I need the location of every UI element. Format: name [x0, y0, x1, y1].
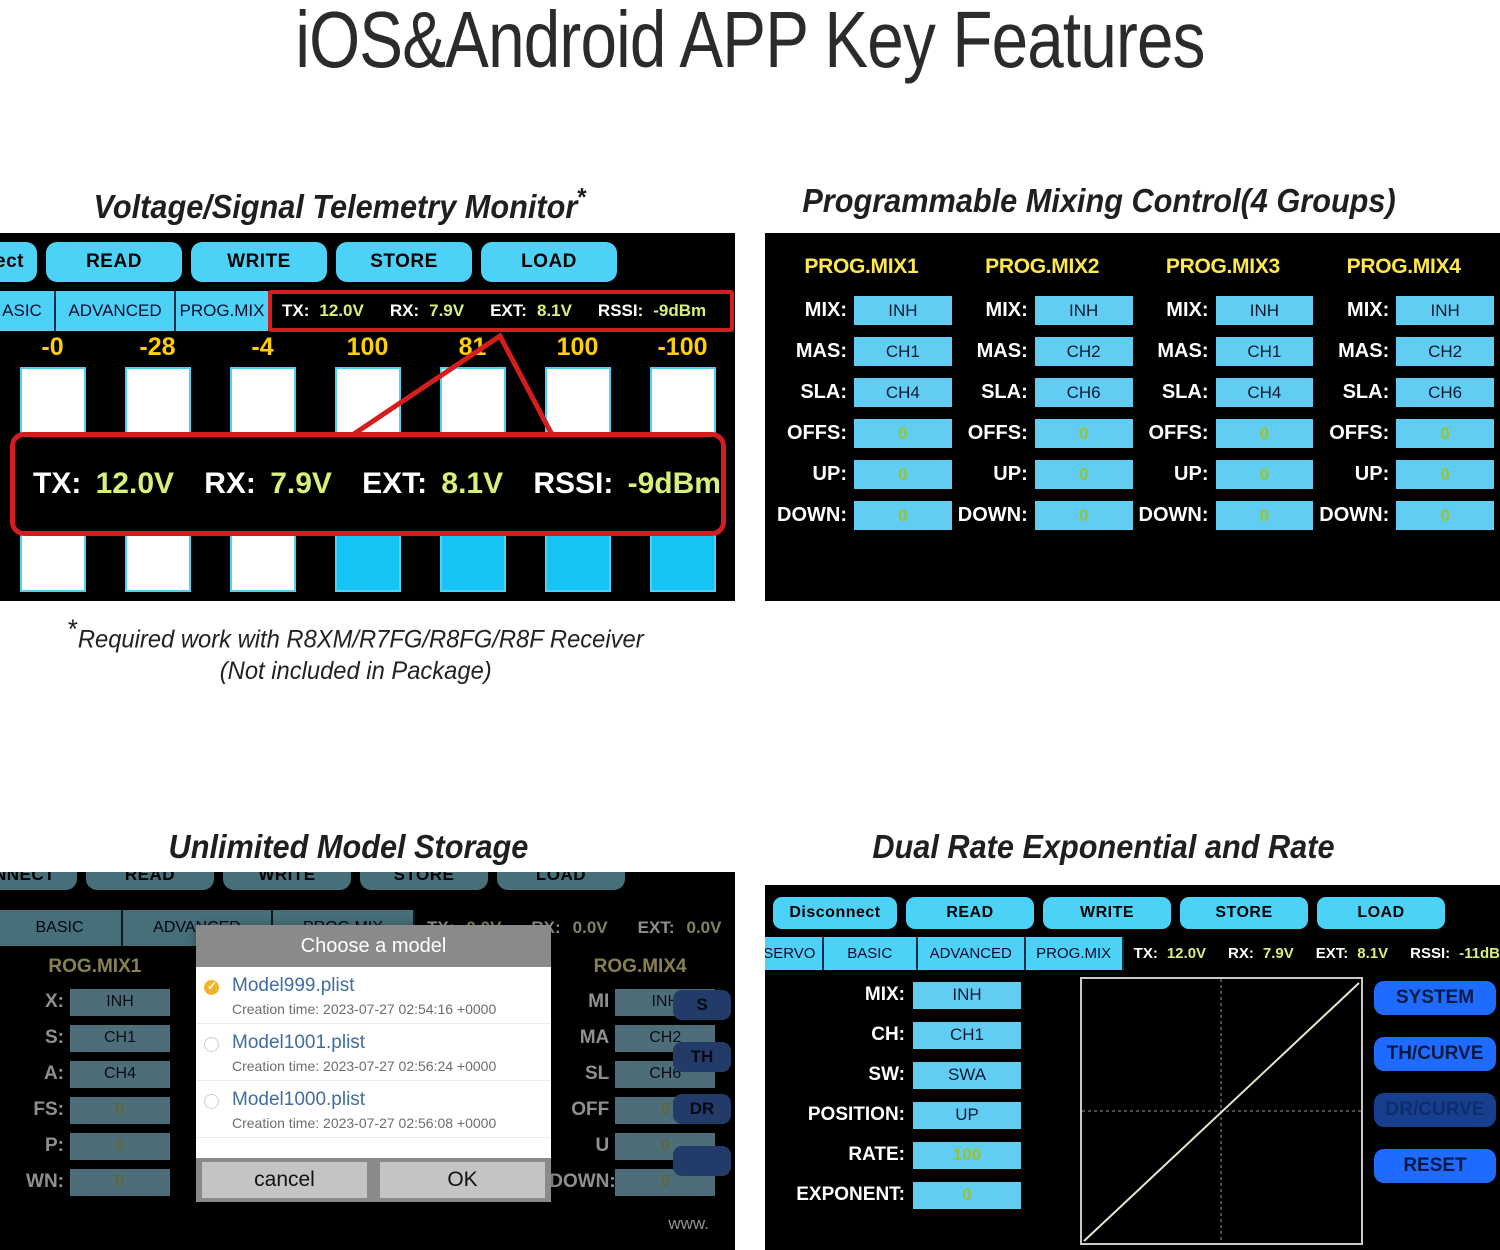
storage-field-label: MA: [549, 1027, 609, 1049]
progmix-cell: SLA:CH6: [1313, 377, 1494, 408]
dualrate-write-button[interactable]: WRITE: [1043, 897, 1171, 929]
progmix-field-offs[interactable]: 0: [1035, 419, 1133, 448]
progmix-cell: MAS:CH1: [1133, 336, 1314, 367]
dualrate-tab-servo[interactable]: SERVO: [765, 937, 824, 970]
dualrate-tx-label: TX:: [1134, 945, 1158, 962]
storage-field-down[interactable]: 0: [70, 1169, 170, 1196]
progmix-panel: PROG.MIX1PROG.MIX2PROG.MIX3PROG.MIX4 MIX…: [765, 233, 1500, 601]
storage-side-button[interactable]: DR: [673, 1094, 731, 1124]
progmix-row: UP:0UP:0UP:0UP:0: [771, 459, 1494, 490]
dr-curve-graph[interactable]: [1080, 977, 1363, 1245]
servo-bar-value: -4: [210, 333, 315, 365]
progmix-cell: UP:0: [952, 459, 1133, 490]
storage-disconnect-button[interactable]: NNECT: [0, 872, 77, 890]
dualrate-field-label: EXPONENT:: [765, 1184, 905, 1206]
section-title-dualrate: Dual Rate Exponential and Rate: [872, 828, 1334, 866]
storage-cell: S:CH1: [4, 1024, 186, 1052]
storage-group-title: ROG.MIX1: [4, 956, 186, 986]
progmix-grid: PROG.MIX1PROG.MIX2PROG.MIX3PROG.MIX4 MIX…: [765, 233, 1500, 601]
progmix-field-label: MAS:: [771, 340, 847, 363]
dualrate-field-position[interactable]: UP: [913, 1102, 1021, 1129]
progmix-field-label: MAS:: [952, 340, 1028, 363]
progmix-field-sla[interactable]: CH4: [1216, 378, 1314, 407]
dialog-list-item[interactable]: Model1000.plistCreation time: 2023-07-27…: [196, 1081, 551, 1138]
storage-field-up[interactable]: 0: [70, 1133, 170, 1160]
callout-rssi-value: -9dBm: [628, 467, 721, 501]
infographic-page: iOS&Android APP Key Features Voltage/Sig…: [0, 0, 1500, 1250]
dualrate-field-ch[interactable]: CH1: [913, 1022, 1021, 1049]
progmix-cell: UP:0: [1313, 459, 1494, 490]
progmix-field-up[interactable]: 0: [1216, 460, 1314, 489]
dialog-model-name: Model1000.plist: [232, 1089, 541, 1111]
progmix-cell: MAS:CH1: [771, 336, 952, 367]
progmix-field-mas[interactable]: CH2: [1396, 337, 1494, 366]
progmix-cell: MIX:INH: [952, 295, 1133, 326]
progmix-field-up[interactable]: 0: [1396, 460, 1494, 489]
dualrate-row: RATE:100: [765, 1141, 1065, 1169]
storage-field-label: P:: [4, 1135, 64, 1157]
progmix-field-sla[interactable]: CH4: [854, 378, 952, 407]
dualrate-telemetry-strip: TX: 12.0V RX: 7.9V EXT: 8.1V RSSI: -11dB: [1124, 937, 1500, 970]
dialog-model-name: Model1001.plist: [232, 1032, 541, 1054]
tab-basic[interactable]: ASIC: [0, 291, 56, 331]
progmix-field-label: DOWN:: [1133, 504, 1209, 527]
progmix-field-label: DOWN:: [771, 504, 847, 527]
storage-field-label: SL: [549, 1063, 609, 1085]
tx-value: 12.0V: [319, 301, 363, 321]
dualrate-rssi-label: RSSI:: [1410, 945, 1450, 962]
dialog-model-name: Model999.plist: [232, 975, 541, 997]
callout-tx-label: TX:: [33, 467, 81, 501]
rx-value: 7.9V: [429, 301, 464, 321]
dialog-model-time: Creation time: 2023-07-27 02:56:24 +0000: [232, 1058, 541, 1074]
progmix-field-offs[interactable]: 0: [1396, 419, 1494, 448]
load-button[interactable]: LOAD: [481, 242, 617, 282]
callout-tx-value: 12.0V: [96, 467, 174, 501]
dualrate-field-sw[interactable]: SWA: [913, 1062, 1021, 1089]
progmix-field-label: OFFS:: [1133, 422, 1209, 445]
storage-field-label: A:: [4, 1063, 64, 1085]
progmix-cell: SLA:CH4: [771, 377, 952, 408]
storage-field-label: DOWN:: [549, 1171, 609, 1193]
callout-rx-value: 7.9V: [270, 467, 332, 501]
section-title-storage: Unlimited Model Storage: [169, 828, 529, 866]
storage-side-button[interactable]: [673, 1146, 731, 1176]
progmix-field-mix[interactable]: INH: [1396, 296, 1494, 325]
progmix-row: MAS:CH1MAS:CH2MAS:CH1MAS:CH2: [771, 336, 1494, 367]
rssi-value: -9dBm: [653, 301, 706, 321]
storage-field-label: OFF: [549, 1099, 609, 1121]
telemetry-strip: TX: 12.0V RX: 7.9V EXT: 8.1V RSSI: -9dBm: [270, 291, 735, 331]
progmix-row: MIX:INHMIX:INHMIX:INHMIX:INH: [771, 295, 1494, 326]
progmix-cell: MIX:INH: [1133, 295, 1314, 326]
progmix-field-mix[interactable]: INH: [1216, 296, 1314, 325]
progmix-field-label: DOWN:: [952, 504, 1028, 527]
progmix-row: OFFS:0OFFS:0OFFS:0OFFS:0: [771, 418, 1494, 449]
progmix-field-label: SLA:: [1133, 381, 1209, 404]
rssi-label: RSSI:: [598, 301, 643, 321]
dualrate-tab-row: SERVO BASIC ADVANCED PROG.MIX TX: 12.0V …: [765, 937, 1500, 970]
progmix-field-label: DOWN:: [1313, 504, 1389, 527]
progmix-field-label: MIX:: [952, 299, 1028, 322]
progmix-field-mix[interactable]: INH: [854, 296, 952, 325]
storage-load-button[interactable]: LOAD: [497, 872, 625, 890]
storage-rx-value: 0.0V: [573, 918, 608, 938]
dualrate-field-label: RATE:: [765, 1144, 905, 1166]
progmix-group-title: PROG.MIX3: [1133, 255, 1314, 291]
telemetry-footnote: *Required work with R8XM/R7FG/R8FG/R8F R…: [28, 612, 684, 687]
storage-tab-basic[interactable]: BASIC: [0, 910, 123, 946]
tx-label: TX:: [282, 301, 309, 321]
storage-cell: A:CH4: [4, 1060, 186, 1088]
progmix-cell: SLA:CH6: [952, 377, 1133, 408]
progmix-field-label: MIX:: [771, 299, 847, 322]
progmix-field-mas[interactable]: CH1: [854, 337, 952, 366]
servo-bar-value: 100: [525, 333, 630, 365]
progmix-field-label: SLA:: [1313, 381, 1389, 404]
dualrate-rx-value: 7.9V: [1263, 945, 1294, 962]
storage-field-label: WN:: [4, 1171, 64, 1193]
dualrate-disconnect-button[interactable]: Disconnect: [773, 897, 897, 929]
progmix-group-title: PROG.MIX1: [771, 255, 952, 291]
ext-label: EXT:: [490, 301, 527, 321]
progmix-group-title: PROG.MIX4: [1313, 255, 1494, 291]
progmix-cell: DOWN:0: [1313, 500, 1494, 531]
progmix-rows: MIX:INHMIX:INHMIX:INHMIX:INHMAS:CH1MAS:C…: [771, 295, 1494, 531]
dualrate-field-label: POSITION:: [765, 1104, 905, 1126]
dualrate-store-button[interactable]: STORE: [1180, 897, 1308, 929]
storage-side-button[interactable]: S: [673, 990, 731, 1020]
dualrate-panel: Disconnect READ WRITE STORE LOAD SERVO B…: [765, 885, 1500, 1250]
page-title: iOS&Android APP Key Features: [135, 0, 1365, 86]
storage-cell: WN:0: [4, 1168, 186, 1196]
storage-cell: X:INH: [4, 988, 186, 1016]
dualrate-tab-progmix[interactable]: PROG.MIX: [1026, 937, 1124, 970]
storage-field-label: X:: [4, 991, 64, 1013]
progmix-field-up[interactable]: 0: [854, 460, 952, 489]
progmix-field-label: UP:: [1133, 463, 1209, 486]
tab-advanced[interactable]: ADVANCED: [56, 291, 176, 331]
dualrate-row: EXPONENT:0: [765, 1181, 1065, 1209]
section-title-telemetry-text: Voltage/Signal Telemetry Monitor: [94, 188, 578, 225]
dualrate-field-rate[interactable]: 100: [913, 1142, 1021, 1169]
dualrate-field-label: MIX:: [765, 984, 905, 1006]
servo-bar-values: -0-28-410081100-100: [0, 333, 735, 365]
tab-progmix[interactable]: PROG.MIX: [176, 291, 270, 331]
progmix-field-offs[interactable]: 0: [854, 419, 952, 448]
footnote-line1: Required work with R8XM/R7FG/R8FG/R8F Re…: [78, 625, 644, 653]
storage-write-button[interactable]: WRITE: [223, 872, 351, 890]
storage-field-mix[interactable]: INH: [70, 989, 170, 1016]
progmix-field-label: MIX:: [1313, 299, 1389, 322]
telemetry-toolbar: ect READ WRITE STORE LOAD: [0, 233, 735, 291]
dialog-list-item[interactable]: Model999.plistCreation time: 2023-07-27 …: [196, 967, 551, 1024]
progmix-field-down[interactable]: 0: [854, 501, 952, 530]
ext-value: 8.1V: [537, 301, 572, 321]
progmix-cell: MAS:CH2: [952, 336, 1133, 367]
storage-side-buttons: STHDR: [673, 990, 731, 1176]
storage-cell: P:0: [4, 1132, 186, 1160]
progmix-field-label: MAS:: [1313, 340, 1389, 363]
progmix-field-label: UP:: [952, 463, 1028, 486]
dualrate-side-button-th-curve[interactable]: TH/CURVE: [1374, 1037, 1496, 1071]
progmix-cell: MIX:INH: [1313, 295, 1494, 326]
dualrate-tx-value: 12.0V: [1167, 945, 1206, 962]
storage-ext-value: 0.0V: [686, 918, 721, 938]
dualrate-side-button-system[interactable]: SYSTEM: [1374, 981, 1496, 1015]
progmix-cell: UP:0: [1133, 459, 1314, 490]
servo-bar-value: -100: [630, 333, 735, 365]
dualrate-field-label: SW:: [765, 1064, 905, 1086]
dualrate-field-label: CH:: [765, 1024, 905, 1046]
progmix-field-mix[interactable]: INH: [1035, 296, 1133, 325]
dialog-button-row: cancel OK: [196, 1158, 551, 1202]
dialog-ok-button[interactable]: OK: [380, 1162, 545, 1198]
progmix-row: SLA:CH4SLA:CH6SLA:CH4SLA:CH6: [771, 377, 1494, 408]
footnote-asterisk: *: [68, 614, 78, 644]
storage-field-label: FS:: [4, 1099, 64, 1121]
radio-icon[interactable]: [204, 1094, 219, 1109]
progmix-cell: OFFS:0: [771, 418, 952, 449]
dualrate-side-buttons: SYSTEMTH/CURVEDR/CURVERESET: [1374, 981, 1496, 1183]
progmix-cell: OFFS:0: [952, 418, 1133, 449]
dualrate-tab-basic[interactable]: BASIC: [824, 937, 918, 970]
radio-icon[interactable]: [204, 1037, 219, 1052]
storage-field-label: MI: [549, 991, 609, 1013]
dialog-title: Choose a model: [196, 925, 551, 967]
dualrate-row: MIX:INH: [765, 981, 1065, 1009]
progmix-cell: MIX:INH: [771, 295, 952, 326]
dualrate-side-button-dr-curve[interactable]: DR/CURVE: [1374, 1093, 1496, 1127]
progmix-cell: MAS:CH2: [1313, 336, 1494, 367]
progmix-field-label: SLA:: [771, 381, 847, 404]
dualrate-side-button-reset[interactable]: RESET: [1374, 1149, 1496, 1183]
storage-field-sla[interactable]: CH4: [70, 1061, 170, 1088]
telemetry-panel: ect READ WRITE STORE LOAD ASIC ADVANCED …: [0, 233, 735, 601]
disconnect-button[interactable]: ect: [0, 242, 37, 282]
dialog-cancel-button[interactable]: cancel: [202, 1162, 367, 1198]
dualrate-ext-label: EXT:: [1316, 945, 1349, 962]
dualrate-rssi-value: -11dB: [1459, 945, 1500, 962]
dualrate-tab-advanced[interactable]: ADVANCED: [918, 937, 1026, 970]
servo-bar-value: 100: [315, 333, 420, 365]
dualrate-rx-label: RX:: [1228, 945, 1254, 962]
dialog-model-time: Creation time: 2023-07-27 02:56:08 +0000: [232, 1115, 541, 1131]
servo-bar-value: -28: [105, 333, 210, 365]
storage-field-label: S:: [4, 1027, 64, 1049]
storage-side-button[interactable]: TH: [673, 1042, 731, 1072]
write-button[interactable]: WRITE: [191, 242, 327, 282]
dialog-list-item[interactable]: Model1001.plistCreation time: 2023-07-27…: [196, 1024, 551, 1081]
progmix-cell: OFFS:0: [1313, 418, 1494, 449]
dualrate-field-exponent[interactable]: 0: [913, 1182, 1021, 1209]
progmix-group-title: PROG.MIX2: [952, 255, 1133, 291]
section-title-asterisk: *: [577, 182, 586, 212]
servo-bar-value: 81: [420, 333, 525, 365]
callout-ext-value: 8.1V: [441, 467, 503, 501]
storage-field-mas[interactable]: CH1: [70, 1025, 170, 1052]
dualrate-body: MIX:INHCH:CH1SW:SWAPOSITION:UPRATE:100EX…: [765, 975, 1500, 1250]
choose-model-dialog: Choose a model Model999.plistCreation ti…: [196, 925, 551, 1202]
dr-curve-svg: [1082, 979, 1361, 1243]
section-title-progmix: Programmable Mixing Control(4 Groups): [802, 182, 1395, 220]
callout-rssi-label: RSSI:: [533, 467, 613, 501]
storage-cell: FS:0: [4, 1096, 186, 1124]
progmix-field-down[interactable]: 0: [1035, 501, 1133, 530]
progmix-field-label: OFFS:: [771, 422, 847, 445]
dualrate-row: SW:SWA: [765, 1061, 1065, 1089]
progmix-cell: UP:0: [771, 459, 952, 490]
progmix-field-label: OFFS:: [1313, 422, 1389, 445]
progmix-field-label: UP:: [771, 463, 847, 486]
progmix-field-label: UP:: [1313, 463, 1389, 486]
dualrate-field-list: MIX:INHCH:CH1SW:SWAPOSITION:UPRATE:100EX…: [765, 981, 1065, 1209]
dualrate-load-button[interactable]: LOAD: [1317, 897, 1445, 929]
progmix-field-down[interactable]: 0: [1396, 501, 1494, 530]
progmix-field-label: OFFS:: [952, 422, 1028, 445]
progmix-row: DOWN:0DOWN:0DOWN:0DOWN:0: [771, 500, 1494, 531]
progmix-cell: DOWN:0: [771, 500, 952, 531]
callout-rx-label: RX:: [204, 467, 256, 501]
dialog-model-list[interactable]: Model999.plistCreation time: 2023-07-27 …: [196, 967, 551, 1159]
progmix-field-down[interactable]: 0: [1216, 501, 1314, 530]
telemetry-callout-zoom: TX: 12.0V RX: 7.9V EXT: 8.1V RSSI: -9dBm: [10, 432, 726, 536]
check-icon[interactable]: [204, 980, 219, 995]
progmix-field-mas[interactable]: CH2: [1035, 337, 1133, 366]
store-button[interactable]: STORE: [336, 242, 472, 282]
progmix-field-up[interactable]: 0: [1035, 460, 1133, 489]
progmix-cell: SLA:CH4: [1133, 377, 1314, 408]
progmix-cell: OFFS:0: [1133, 418, 1314, 449]
progmix-field-mas[interactable]: CH1: [1216, 337, 1314, 366]
dualrate-toolbar: Disconnect READ WRITE STORE LOAD: [765, 891, 1500, 935]
progmix-field-offs[interactable]: 0: [1216, 419, 1314, 448]
progmix-field-label: MIX:: [1133, 299, 1209, 322]
storage-field-offs[interactable]: 0: [70, 1097, 170, 1124]
storage-field-label: U: [549, 1135, 609, 1157]
progmix-field-label: SLA:: [952, 381, 1028, 404]
servo-bar-value: -0: [0, 333, 105, 365]
storage-store-button[interactable]: STORE: [360, 872, 488, 890]
progmix-field-sla[interactable]: CH6: [1396, 378, 1494, 407]
callout-ext-label: EXT:: [362, 467, 427, 501]
dualrate-row: CH:CH1: [765, 1021, 1065, 1049]
dualrate-field-mix[interactable]: INH: [913, 982, 1021, 1009]
storage-group-title: ROG.MIX4: [549, 956, 731, 986]
rx-label: RX:: [390, 301, 419, 321]
progmix-field-sla[interactable]: CH6: [1035, 378, 1133, 407]
progmix-headers: PROG.MIX1PROG.MIX2PROG.MIX3PROG.MIX4: [771, 255, 1494, 291]
storage-ext-label: EXT:: [638, 918, 675, 938]
dualrate-read-button[interactable]: READ: [906, 897, 1034, 929]
section-title-telemetry: Voltage/Signal Telemetry Monitor*: [94, 182, 587, 226]
storage-toolbar: NNECT READ WRITE STORE LOAD: [0, 872, 735, 906]
read-button[interactable]: READ: [46, 242, 182, 282]
telemetry-tab-row: ASIC ADVANCED PROG.MIX TX: 12.0V RX: 7.9…: [0, 291, 735, 331]
progmix-cell: DOWN:0: [952, 500, 1133, 531]
dualrate-row: POSITION:UP: [765, 1101, 1065, 1129]
progmix-field-label: MAS:: [1133, 340, 1209, 363]
dialog-model-time: Creation time: 2023-07-27 02:54:16 +0000: [232, 1001, 541, 1017]
progmix-cell: DOWN:0: [1133, 500, 1314, 531]
dualrate-ext-value: 8.1V: [1357, 945, 1388, 962]
storage-read-button[interactable]: READ: [86, 872, 214, 890]
footnote-line2: (Not included in Package): [220, 657, 492, 685]
storage-watermark: www.: [668, 1214, 709, 1234]
